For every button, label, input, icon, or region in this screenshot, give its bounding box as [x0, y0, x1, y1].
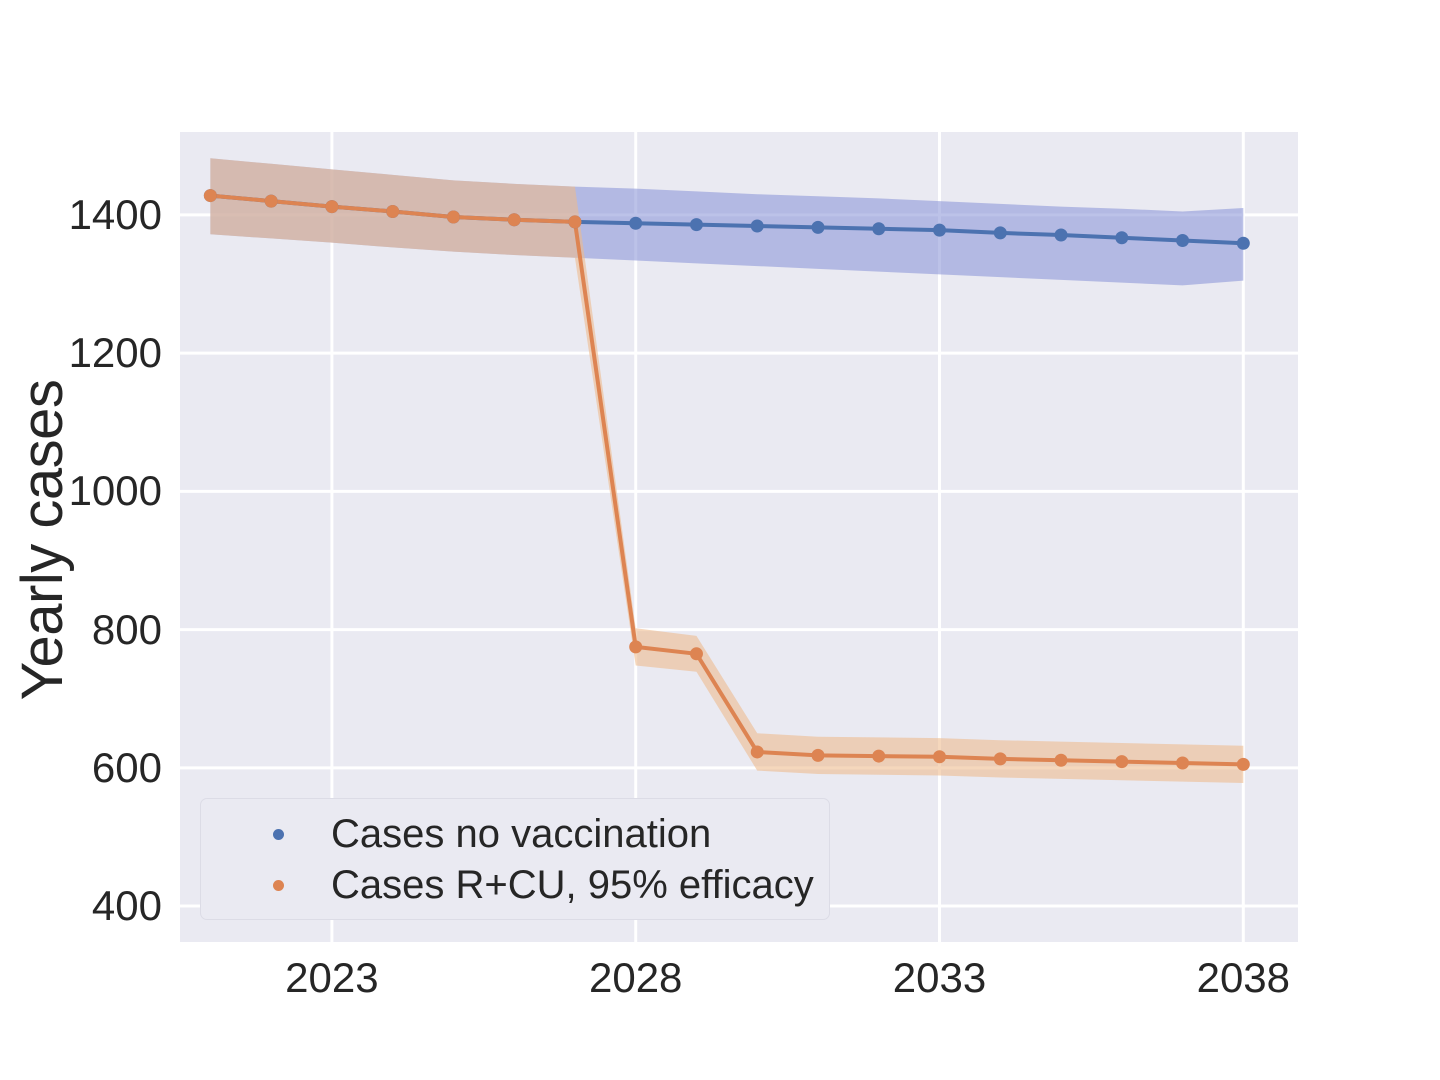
chart-legend[interactable]: Cases no vaccination Cases R+CU, 95% eff…	[200, 798, 830, 920]
chart-figure: Yearly cases 140012001000800600400 20232…	[0, 0, 1440, 1080]
data-point-marker	[629, 640, 642, 653]
data-point-marker	[811, 749, 824, 762]
data-point-marker	[933, 750, 946, 763]
data-point-marker	[1115, 231, 1128, 244]
y-tick-label: 1400	[69, 191, 162, 239]
data-point-marker	[1176, 234, 1189, 247]
data-point-marker	[751, 219, 764, 232]
data-point-marker	[690, 218, 703, 231]
data-point-marker	[386, 205, 399, 218]
x-tick-label: 2038	[1197, 954, 1290, 1002]
data-point-marker	[1237, 237, 1250, 250]
y-tick-label: 400	[92, 882, 162, 930]
data-point-marker	[994, 752, 1007, 765]
data-point-marker	[1237, 758, 1250, 771]
legend-dot-icon	[273, 829, 284, 840]
data-point-marker	[447, 211, 460, 224]
y-tick-label: 1200	[69, 329, 162, 377]
legend-label-1: Cases R+CU, 95% efficacy	[331, 863, 814, 908]
x-tick-label: 2033	[893, 954, 986, 1002]
y-tick-label: 1000	[69, 467, 162, 515]
y-tick-label: 800	[92, 606, 162, 654]
data-point-marker	[1055, 228, 1068, 241]
data-point-marker	[1115, 755, 1128, 768]
data-point-marker	[325, 200, 338, 213]
data-point-marker	[1055, 754, 1068, 767]
data-point-marker	[751, 745, 764, 758]
legend-marker-blue	[225, 829, 331, 840]
legend-marker-orange	[225, 880, 331, 891]
x-tick-label: 2028	[589, 954, 682, 1002]
legend-label-0: Cases no vaccination	[331, 812, 711, 857]
data-point-marker	[994, 226, 1007, 239]
data-point-marker	[508, 213, 521, 226]
x-tick-label: 2023	[285, 954, 378, 1002]
data-point-marker	[568, 215, 581, 228]
legend-item-cases-no-vaccination[interactable]: Cases no vaccination	[201, 809, 829, 860]
data-point-marker	[265, 195, 278, 208]
legend-item-cases-rcu-95-efficacy[interactable]: Cases R+CU, 95% efficacy	[201, 860, 829, 911]
data-point-marker	[690, 647, 703, 660]
data-point-marker	[811, 221, 824, 234]
data-point-marker	[872, 222, 885, 235]
data-point-marker	[629, 217, 642, 230]
data-point-marker	[204, 189, 217, 202]
data-point-marker	[872, 750, 885, 763]
data-point-marker	[1176, 756, 1189, 769]
legend-dot-icon	[273, 880, 284, 891]
y-tick-label: 600	[92, 744, 162, 792]
data-point-marker	[933, 224, 946, 237]
